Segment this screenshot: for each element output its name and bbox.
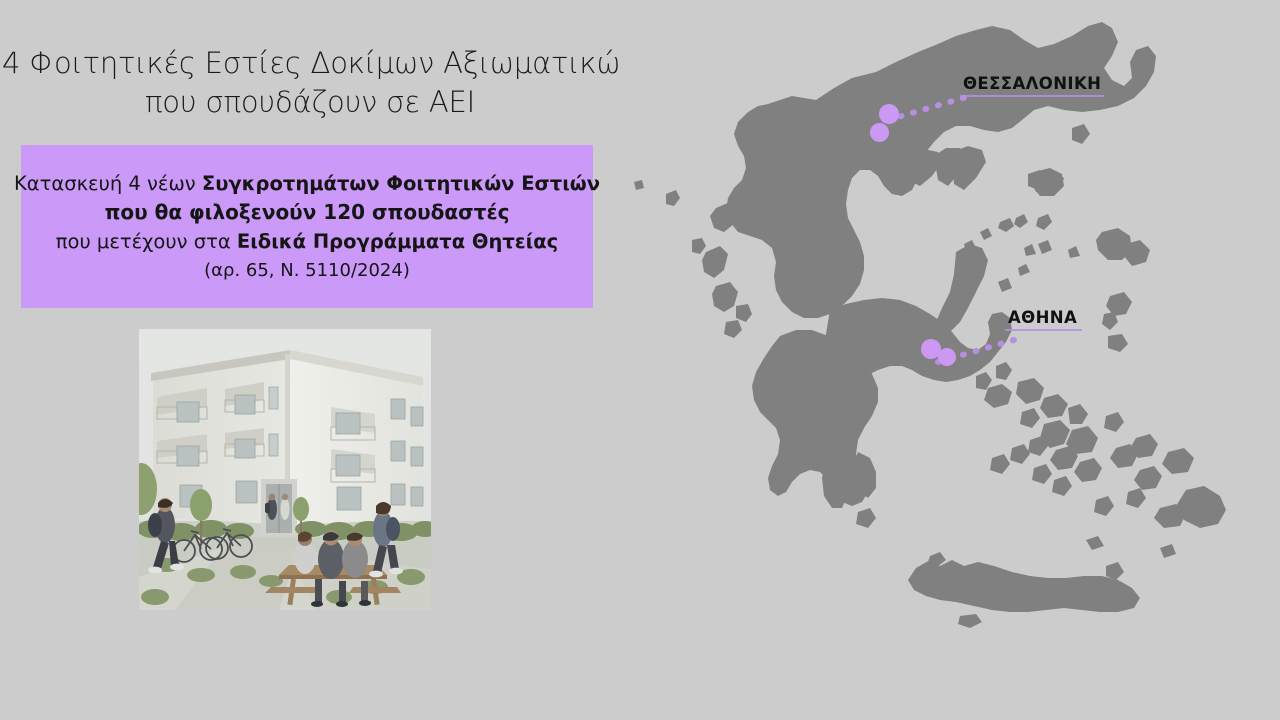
page-title-line-2: που σπουδάζουν σε ΑΕΙ — [0, 83, 614, 122]
map-marker-athina-2[interactable] — [938, 348, 956, 366]
map-label-athina: ΑΘΗΝΑ — [1008, 308, 1077, 327]
dormitory-photo-illustration — [139, 329, 431, 610]
callout-line-1: Κατασκευή 4 νέων Συγκροτημάτων Φοιτητικώ… — [14, 169, 600, 198]
dormitory-photo — [139, 329, 431, 610]
callout-line-4-law-reference: (αρ. 65, Ν. 5110/2024) — [204, 256, 410, 286]
map-marker-thessaloniki-2[interactable] — [870, 123, 889, 142]
callout-line-1-bold: Συγκροτημάτων Φοιτητικών Εστιών — [202, 172, 600, 195]
callout-line-3-bold: Ειδικά Προγράμματα Θητείας — [237, 230, 558, 253]
map-label-underline-thessaloniki — [960, 95, 1104, 97]
map-marker-thessaloniki-1[interactable] — [879, 104, 899, 124]
callout-line-2: που θα φιλοξενούν 120 σπουδαστές — [105, 198, 510, 227]
map-label-thessaloniki: ΘΕΣΣΑΛΟΝΙΚΗ — [963, 74, 1101, 93]
page-title: 4 Φοιτητικές Εστίες Δοκίμων Αξιωματικών … — [0, 44, 614, 122]
callout-box: Κατασκευή 4 νέων Συγκροτημάτων Φοιτητικώ… — [21, 145, 593, 308]
greece-map — [620, 0, 1280, 660]
callout-line-1-regular: Κατασκευή 4 νέων — [14, 172, 202, 195]
callout-line-3-regular: που μετέχουν στα — [56, 230, 237, 253]
map-label-underline-athina — [1005, 329, 1082, 331]
page-title-line-1: 4 Φοιτητικές Εστίες Δοκίμων Αξιωματικών — [0, 44, 614, 83]
greece-map-svg — [620, 0, 1280, 660]
callout-line-3: που μετέχουν στα Ειδικά Προγράμματα Θητε… — [56, 227, 558, 256]
